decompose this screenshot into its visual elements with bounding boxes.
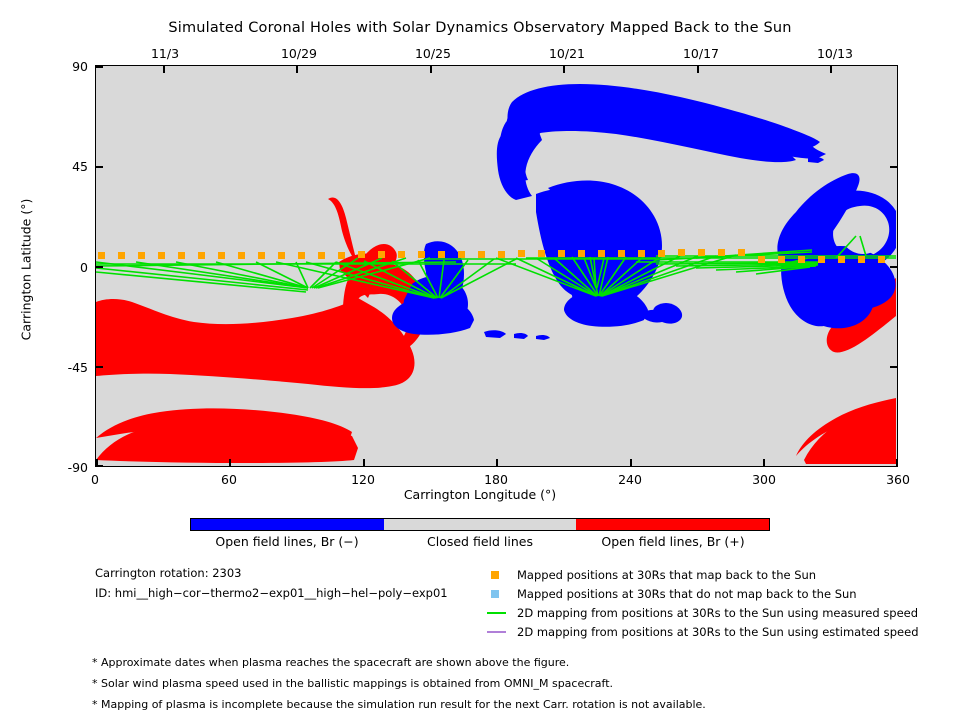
legend-label-measured-speed: 2D mapping from positions at 30Rs to the… <box>517 606 918 620</box>
y-tick-0 <box>96 266 103 268</box>
y-tick-label-0: 0 <box>48 260 88 275</box>
legend-item-measured-speed: 2D mapping from positions at 30Rs to the… <box>487 603 919 622</box>
legend-item-not-mapped: Mapped positions at 30Rs that do not map… <box>487 584 919 603</box>
legend-label-mapped: Mapped positions at 30Rs that map back t… <box>517 568 816 582</box>
top-date-label-1: 10/29 <box>264 46 334 61</box>
footnote-2: * Mapping of plasma is incomplete becaus… <box>92 694 706 715</box>
y-tick-label-90: 90 <box>48 59 88 74</box>
figure-title: Simulated Coronal Holes with Solar Dynam… <box>0 20 960 36</box>
x-axis-title: Carrington Longitude (°) <box>0 487 960 502</box>
colorbar-segment-positive <box>576 519 769 530</box>
legend: Mapped positions at 30Rs that map back t… <box>487 565 919 641</box>
x-tick-60 <box>229 459 231 466</box>
x-tick-label-120: 120 <box>333 472 393 487</box>
top-tick-5 <box>830 66 832 73</box>
x-tick-label-180: 180 <box>466 472 526 487</box>
legend-label-estimated-speed: 2D mapping from positions at 30Rs to the… <box>517 625 919 639</box>
y-tick-label-45: 45 <box>48 159 88 174</box>
legend-item-estimated-speed: 2D mapping from positions at 30Rs to the… <box>487 622 919 641</box>
footnote-1: * Solar wind plasma speed used in the ba… <box>92 673 706 694</box>
x-tick-label-60: 60 <box>199 472 259 487</box>
plot-area[interactable] <box>95 65 898 467</box>
y-tick-m45 <box>96 366 103 368</box>
run-id-text: ID: hmi__high−cor−thermo2−exp01__high−he… <box>95 583 448 603</box>
colorbar-labels: Open field lines, Br (−) Closed field li… <box>150 534 810 552</box>
top-date-label-5: 10/13 <box>800 46 870 61</box>
top-tick-0 <box>163 66 165 73</box>
top-tick-3 <box>563 66 565 73</box>
colorbar-label-positive: Open field lines, Br (+) <box>543 534 803 549</box>
top-tick-4 <box>697 66 699 73</box>
top-date-label-4: 10/17 <box>666 46 736 61</box>
purple-line-icon <box>487 625 509 639</box>
x-tick-label-240: 240 <box>600 472 660 487</box>
x-tick-240 <box>630 459 632 466</box>
colorbar-segment-negative <box>191 519 384 530</box>
footnotes: * Approximate dates when plasma reaches … <box>92 652 706 715</box>
top-date-label-3: 10/21 <box>532 46 602 61</box>
y-tick-right-m45 <box>890 366 897 368</box>
x-tick-label-300: 300 <box>734 472 794 487</box>
metadata-block: Carrington rotation: 2303 ID: hmi__high−… <box>95 563 448 603</box>
top-date-label-2: 10/25 <box>398 46 468 61</box>
y-tick-90 <box>96 66 103 68</box>
x-tick-360 <box>896 459 898 466</box>
colorbar-segment-closed <box>384 519 576 530</box>
x-tick-300 <box>763 459 765 466</box>
x-tick-180 <box>496 459 498 466</box>
plot-canvas <box>96 66 897 466</box>
x-tick-120 <box>363 459 365 466</box>
y-tick-right-45 <box>890 166 897 168</box>
legend-item-mapped: Mapped positions at 30Rs that map back t… <box>487 565 919 584</box>
y-tick-45 <box>96 166 103 168</box>
y-tick-right-0 <box>890 266 897 268</box>
y-tick-m90 <box>96 465 103 467</box>
top-date-label-0: 11/3 <box>130 46 200 61</box>
top-tick-1 <box>296 66 298 73</box>
green-line-icon <box>487 606 509 620</box>
y-axis-title: Carrington Latitude (°) <box>19 30 34 510</box>
carrington-rotation-text: Carrington rotation: 2303 <box>95 563 448 583</box>
legend-label-not-mapped: Mapped positions at 30Rs that do not map… <box>517 587 857 601</box>
figure-root: Simulated Coronal Holes with Solar Dynam… <box>0 0 960 720</box>
lightblue-square-icon <box>487 587 509 601</box>
footnote-0: * Approximate dates when plasma reaches … <box>92 652 706 673</box>
x-tick-label-360: 360 <box>868 472 928 487</box>
orange-square-icon <box>487 568 509 582</box>
colorbar <box>190 518 770 531</box>
top-tick-2 <box>430 66 432 73</box>
x-tick-label-0: 0 <box>65 472 125 487</box>
y-tick-label-m45: -45 <box>48 360 88 375</box>
